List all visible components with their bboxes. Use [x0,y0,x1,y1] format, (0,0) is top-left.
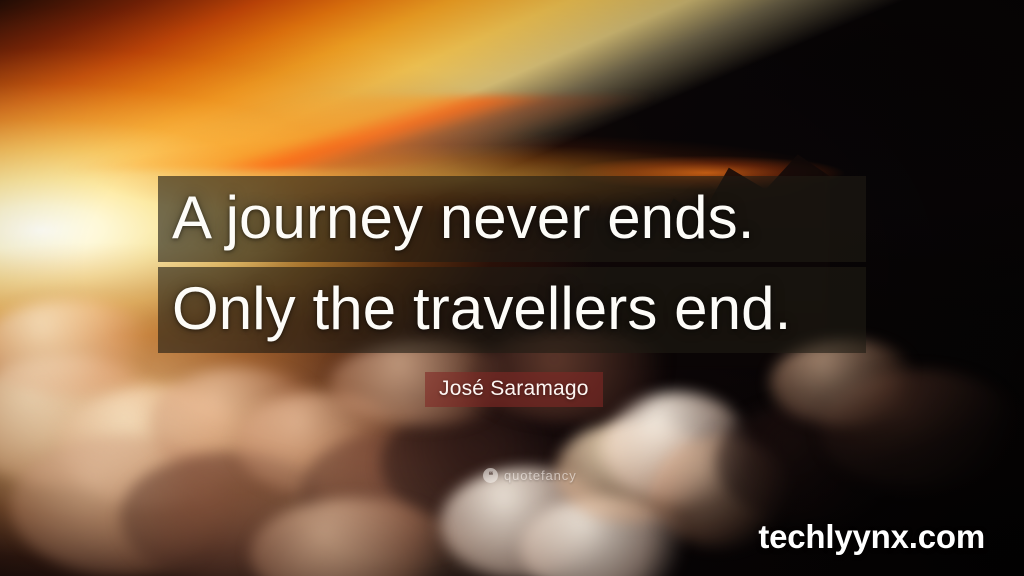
quote-poster: A journey never ends. Only the traveller… [0,0,1024,576]
quote-mark-icon: ❝ [483,468,498,483]
quotefancy-label: quotefancy [504,468,577,483]
quote-author: José Saramago [425,372,603,407]
quotefancy-watermark[interactable]: ❝ quotefancy [483,468,577,483]
quote-line-1: A journey never ends. [158,176,866,262]
quote-line-2: Only the travellers end. [158,267,866,353]
quote-block: A journey never ends. Only the traveller… [158,176,866,353]
site-watermark: techlyynx.com [758,518,985,556]
